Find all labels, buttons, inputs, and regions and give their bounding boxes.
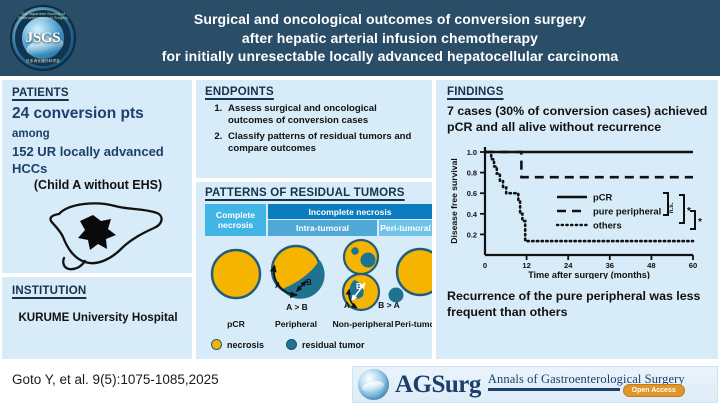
- agsurg-rule: [488, 388, 620, 391]
- chart-legend: pCR pure peripheral others: [557, 192, 661, 231]
- series-pure-peripheral: [485, 152, 693, 177]
- svg-text:A > B: A > B: [286, 302, 308, 312]
- patients-heading: PATIENTS: [12, 87, 184, 99]
- svg-text:0.2: 0.2: [467, 230, 477, 239]
- x-ticks: 0 12 24 36 48 60: [483, 255, 697, 270]
- agsurg-subtitle-block: Annals of Gastroenterological Surgery Op…: [488, 372, 685, 397]
- patients-panel: PATIENTS 24 conversion pts among 152 UR …: [2, 80, 192, 273]
- km-chart-svg: 1.0 0.8 0.6 0.4 0.2 0 12 24 36 48: [447, 137, 709, 279]
- agsurg-journal-logo: AGSurg Annals of Gastroenterological Sur…: [352, 366, 718, 403]
- legend-residual-tumor: residual tumor: [286, 339, 365, 350]
- title-line-1: Surgical and oncological outcomes of con…: [78, 10, 702, 29]
- patients-line-1: 24 conversion pts among: [12, 105, 184, 143]
- peri-tumoral-diagram: [389, 249, 433, 303]
- patterns-category-bars: Complete necrosis Incomplete necrosis In…: [205, 204, 432, 236]
- jsgs-society-logo: The Japanese Society of Gastroenterologi…: [10, 5, 76, 71]
- legend-necrosis-label: necrosis: [227, 340, 264, 350]
- logo-arc-top-text: The Japanese Society of Gastroenterologi…: [12, 12, 74, 20]
- patients-line-3: (Child A without EHS): [12, 177, 184, 194]
- legend-necrosis: necrosis: [211, 339, 264, 350]
- title-line-2: after hepatic arterial infusion chemothe…: [78, 29, 702, 48]
- y-axis-label: Disease free survival: [449, 158, 459, 244]
- patients-among: among: [12, 128, 50, 140]
- residual-tumor-pattern-diagram: A B A > B B A B > A pCR Peripheral Non-p…: [205, 238, 432, 334]
- svg-text:12: 12: [522, 261, 530, 270]
- svg-text:A: A: [344, 301, 350, 310]
- bar-incomplete-necrosis: Incomplete necrosis: [268, 204, 432, 219]
- svg-text:1.0: 1.0: [467, 148, 477, 157]
- findings-panel: FINDINGS 7 cases (30% of conversion case…: [436, 80, 718, 359]
- endpoint-item-2: Classify patterns of residual tumors and…: [225, 131, 424, 156]
- patterns-panel: PATTERNS OF RESIDUAL TUMORS Complete nec…: [196, 182, 432, 359]
- svg-text:60: 60: [689, 261, 697, 270]
- svg-text:B: B: [306, 278, 312, 287]
- svg-text:Peripheral: Peripheral: [275, 319, 317, 329]
- residual-tumor-swatch-icon: [286, 339, 297, 350]
- svg-text:Non-peripheral: Non-peripheral: [332, 319, 393, 329]
- header-banner: The Japanese Society of Gastroenterologi…: [0, 0, 720, 76]
- endpoint-item-1: Assess surgical and oncological outcomes…: [225, 103, 424, 128]
- bracket-label-ns: n.s.: [668, 202, 675, 213]
- legend-label-pcr: pCR: [593, 192, 612, 203]
- patterns-heading: PATTERNS OF RESIDUAL TUMORS: [205, 187, 432, 199]
- bar-complete-line-2: necrosis: [218, 220, 253, 231]
- svg-text:0.6: 0.6: [467, 189, 477, 198]
- institution-value: KURUME University Hospital: [12, 311, 184, 324]
- page-title: Surgical and oncological outcomes of con…: [76, 10, 720, 66]
- svg-text:0: 0: [483, 261, 487, 270]
- svg-text:24: 24: [564, 261, 573, 270]
- x-axis-label: Time after surgery (months): [528, 270, 650, 279]
- series-others: [485, 152, 693, 241]
- y-ticks: 1.0 0.8 0.6 0.4 0.2: [467, 148, 485, 239]
- pcr-necrosis-circle: [212, 250, 260, 298]
- endpoints-panel: ENDPOINTS Assess surgical and oncologica…: [196, 80, 432, 178]
- findings-conclusion: Recurrence of the pure peripheral was le…: [447, 288, 710, 320]
- endpoints-list: Assess surgical and oncological outcomes…: [225, 103, 424, 156]
- kaplan-meier-chart: 1.0 0.8 0.6 0.4 0.2 0 12 24 36 48: [447, 137, 710, 284]
- svg-text:0.8: 0.8: [467, 169, 477, 178]
- svg-text:48: 48: [647, 261, 655, 270]
- legend-label-others: others: [593, 220, 622, 231]
- agsurg-wordmark: AGSurg: [395, 371, 481, 399]
- findings-heading: FINDINGS: [447, 86, 710, 98]
- svg-text:pCR: pCR: [227, 319, 245, 329]
- institution-heading: INSTITUTION: [12, 285, 184, 297]
- svg-text:B: B: [356, 282, 362, 291]
- patterns-legend: necrosis residual tumor: [205, 338, 432, 350]
- logo-acronym: JSGS: [26, 30, 61, 47]
- bar-complete-line-1: Complete: [216, 210, 255, 221]
- legend-residual-tumor-label: residual tumor: [302, 340, 365, 350]
- svg-text:36: 36: [606, 261, 614, 270]
- svg-text:A: A: [275, 281, 281, 290]
- bracket-label-star-2: *: [698, 217, 702, 228]
- liver-tumor-illustration: [23, 197, 173, 275]
- bar-intra-tumoral: Intra-tumoral: [268, 220, 377, 236]
- title-line-3: for initially unresectable locally advan…: [78, 47, 702, 66]
- peripheral-diagram: A B A > B: [272, 246, 325, 312]
- bar-complete-necrosis: Complete necrosis: [205, 204, 266, 236]
- endpoints-heading: ENDPOINTS: [205, 86, 424, 98]
- logo-arc-bottom-text: 日本消化器外科学会: [12, 59, 74, 64]
- citation-text: Goto Y, et al. 9(5):1075-1085,2025: [12, 372, 219, 387]
- patients-count: 24 conversion pts: [12, 105, 144, 122]
- agsurg-globe-icon: [358, 369, 389, 400]
- patients-line-2: 152 UR locally advanced HCCs: [12, 143, 184, 177]
- bracket-label-star-1: *: [687, 206, 691, 217]
- institution-panel: INSTITUTION KURUME University Hospital: [2, 277, 192, 359]
- necrosis-swatch-icon: [211, 339, 222, 350]
- svg-text:0.4: 0.4: [467, 210, 478, 219]
- legend-label-pure-peripheral: pure peripheral: [593, 206, 661, 217]
- open-access-badge: Open Access: [623, 384, 685, 397]
- bar-peri-tumoral: Peri-tumoral: [379, 220, 432, 236]
- findings-summary: 7 cases (30% of conversion cases) achiev…: [447, 103, 710, 135]
- svg-text:Peri-tumoral: Peri-tumoral: [395, 319, 432, 329]
